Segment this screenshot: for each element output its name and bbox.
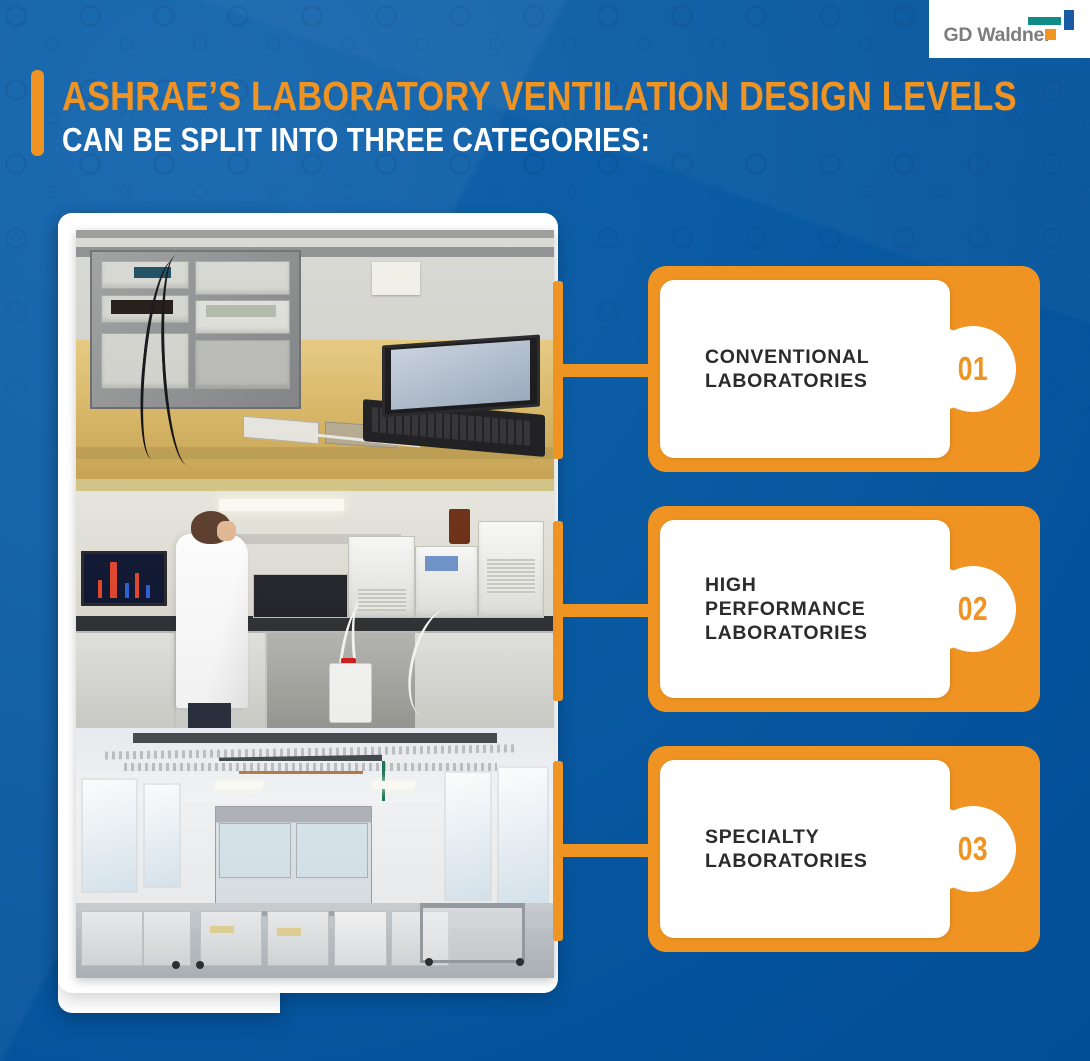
card-face: HIGH PERFORMANCE LABORATORIES: [660, 520, 950, 698]
page-subtitle: CAN BE SPLIT INTO THREE CATEGORIES:: [62, 122, 650, 158]
photo-high-performance-laboratory: [76, 479, 554, 728]
logo-blue-bar-icon: [1064, 10, 1074, 30]
logo-wordmark: GD Waldner: [944, 24, 1052, 47]
card-title-line: PERFORMANCE: [705, 597, 868, 621]
page-title: ASHRAE’S LABORATORY VENTILATION DESIGN L…: [62, 74, 1017, 118]
card-title-line: LABORATORIES: [705, 369, 869, 393]
card-face: SPECIALTY LABORATORIES: [660, 760, 950, 938]
card-face: CONVENTIONAL LABORATORIES: [660, 280, 950, 458]
card-number: 03: [958, 830, 988, 868]
category-card-01[interactable]: CONVENTIONAL LABORATORIES 01: [648, 266, 1040, 472]
card-title-line: LABORATORIES: [705, 621, 868, 645]
card-number-badge: 01: [930, 326, 1016, 412]
card-title: HIGH PERFORMANCE LABORATORIES: [705, 573, 868, 645]
category-card-03[interactable]: SPECIALTY LABORATORIES 03: [648, 746, 1040, 952]
card-title: SPECIALTY LABORATORIES: [705, 825, 868, 873]
photo-stack: [76, 230, 554, 978]
card-number: 01: [958, 350, 988, 388]
card-title-line: CONVENTIONAL: [705, 345, 869, 369]
category-card-02[interactable]: HIGH PERFORMANCE LABORATORIES 02: [648, 506, 1040, 712]
title-accent-bar: [31, 70, 44, 156]
card-number-badge: 02: [930, 566, 1016, 652]
photo-specialty-laboratory: [76, 728, 554, 978]
card-title-line: LABORATORIES: [705, 849, 868, 873]
card-title-line: HIGH: [705, 573, 868, 597]
logo-teal-bar-icon: [1028, 17, 1061, 25]
card-title: CONVENTIONAL LABORATORIES: [705, 345, 869, 393]
card-title-line: SPECIALTY: [705, 825, 868, 849]
brand-logo[interactable]: GD Waldner: [929, 0, 1090, 58]
logo-orange-square-icon: [1045, 29, 1056, 40]
infographic-poster: GD Waldner ASHRAE’S LABORATORY VENTILATI…: [0, 0, 1090, 1061]
photo-conventional-laboratory: [76, 230, 554, 479]
card-number-badge: 03: [930, 806, 1016, 892]
card-number: 02: [958, 590, 988, 628]
